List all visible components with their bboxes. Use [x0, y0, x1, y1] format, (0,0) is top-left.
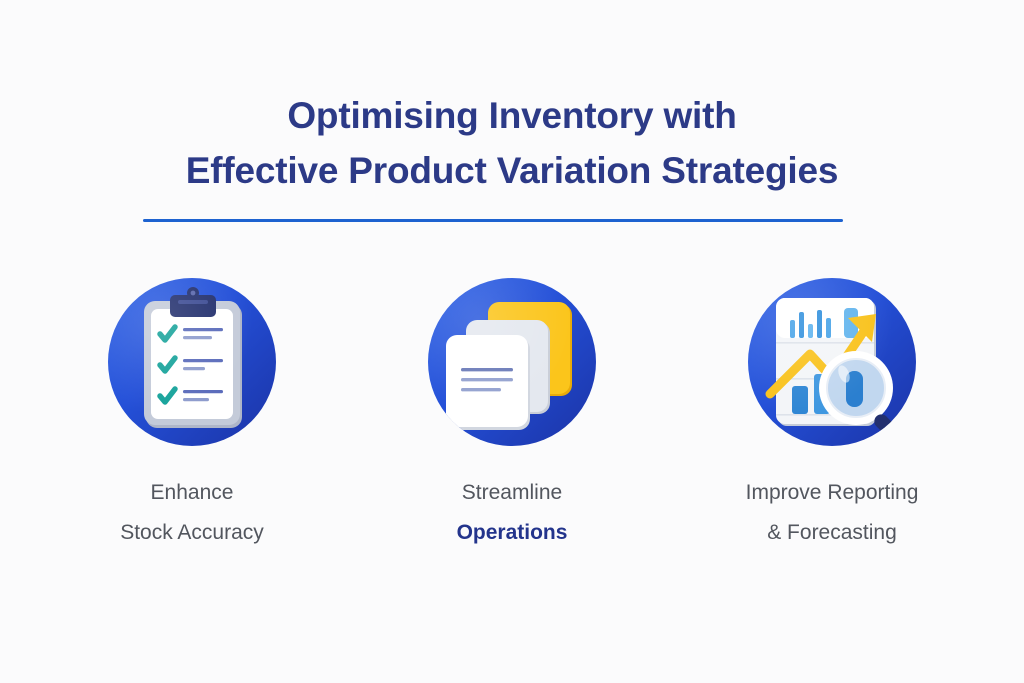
- page-title: Optimising Inventory with Effective Prod…: [0, 88, 1024, 198]
- icon-circle-1: [108, 278, 276, 446]
- caption-line-1: Enhance: [120, 473, 264, 513]
- stacked-documents-icon: [428, 278, 596, 446]
- clipboard-checklist-icon: [108, 278, 276, 446]
- feature-card-stock-accuracy: Enhance Stock Accuracy: [87, 278, 297, 553]
- feature-caption-2: Streamline Operations: [457, 473, 568, 553]
- feature-card-reporting: Improve Reporting & Forecasting: [727, 278, 937, 553]
- feature-caption-3: Improve Reporting & Forecasting: [746, 473, 919, 553]
- caption-line-2: & Forecasting: [746, 513, 919, 553]
- title-line-2: Effective Product Variation Strategies: [0, 143, 1024, 198]
- title-divider: [143, 219, 843, 222]
- report-chart-magnifier-icon: [748, 278, 916, 446]
- slide-canvas: Optimising Inventory with Effective Prod…: [0, 0, 1024, 683]
- caption-line-2: Stock Accuracy: [120, 513, 264, 553]
- caption-line-1: Streamline: [457, 473, 568, 513]
- caption-line-1: Improve Reporting: [746, 473, 919, 513]
- feature-cards-row: Enhance Stock Accuracy: [0, 278, 1024, 553]
- feature-card-operations: Streamline Operations: [407, 278, 617, 553]
- icon-circle-2: [428, 278, 596, 446]
- icon-circle-3: [748, 278, 916, 446]
- title-line-1: Optimising Inventory with: [0, 88, 1024, 143]
- feature-caption-1: Enhance Stock Accuracy: [120, 473, 264, 553]
- caption-line-2: Operations: [457, 513, 568, 553]
